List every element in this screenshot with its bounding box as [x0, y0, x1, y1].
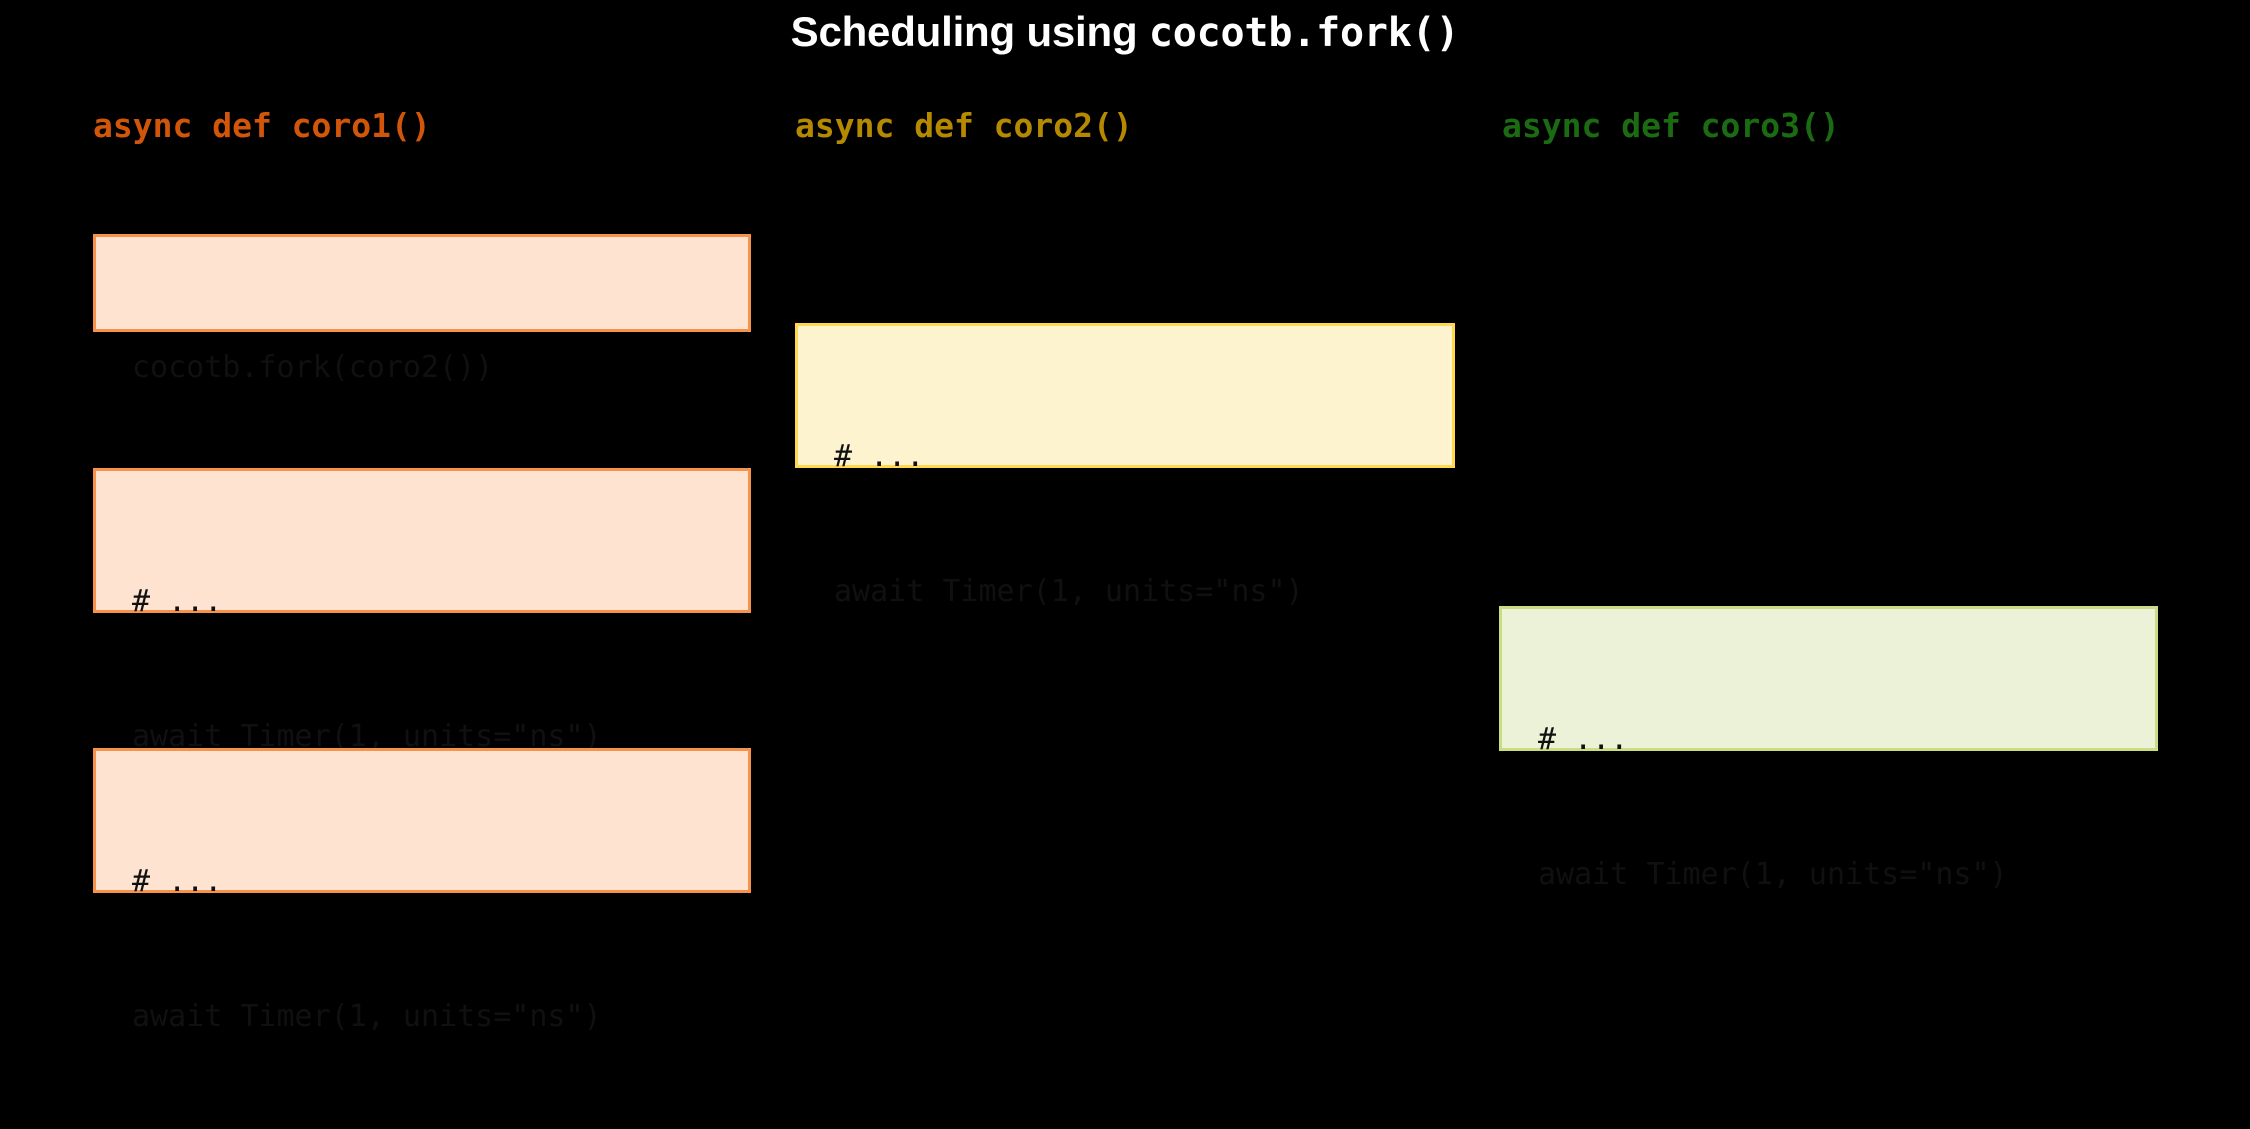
code-line: await Timer(1, units="ns")	[834, 569, 1452, 614]
code-line: # ...	[1538, 717, 2155, 762]
column-header-coro2: async def coro2()	[795, 106, 1133, 145]
code-box-coro1-timer-1: # ... await Timer(1, units="ns")	[93, 468, 751, 613]
code-line: # ...	[132, 859, 748, 904]
column-header-coro3: async def coro3()	[1502, 106, 1840, 145]
code-box-coro1-fork: cocotb.fork(coro2())	[93, 234, 751, 332]
code-box-coro3-timer-1: # ... await Timer(1, units="ns")	[1499, 606, 2158, 751]
page-title-text: Scheduling using	[791, 8, 1149, 55]
page-title: Scheduling using cocotb.fork()	[0, 8, 2250, 56]
code-line: await Timer(1, units="ns")	[132, 994, 748, 1039]
code-line: await Timer(1, units="ns")	[1538, 852, 2155, 897]
code-line: # ...	[132, 579, 748, 624]
code-line: # ...	[834, 434, 1452, 479]
column-header-coro1: async def coro1()	[93, 106, 431, 145]
code-box-coro2-timer-1: # ... await Timer(1, units="ns")	[795, 323, 1455, 468]
slide-canvas: Scheduling using cocotb.fork() async def…	[0, 0, 2250, 892]
code-box-coro1-timer-2: # ... await Timer(1, units="ns")	[93, 748, 751, 893]
code-line: cocotb.fork(coro2())	[132, 345, 748, 390]
page-title-code: cocotb.fork()	[1149, 10, 1459, 56]
